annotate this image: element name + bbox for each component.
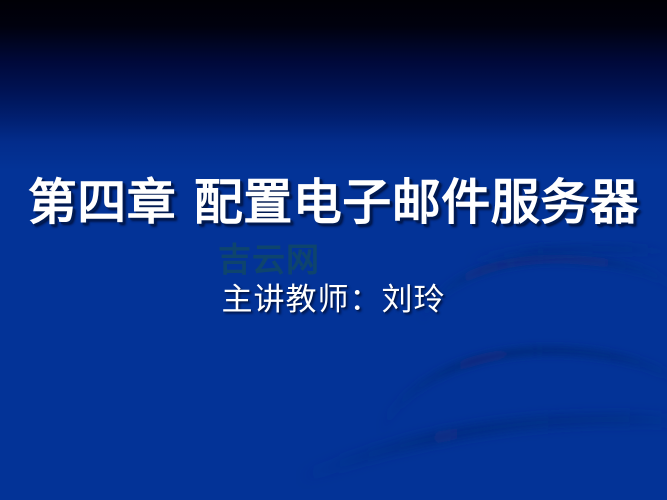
site-watermark: 吉云网 [203,239,335,279]
slide-title: 第四章 配置电子邮件服务器 [0,176,667,230]
slide-subtitle-presenter: 主讲教师：刘玲 [0,283,667,317]
presentation-slide: 吉云网 第四章 配置电子邮件服务器 主讲教师：刘玲 [0,0,667,500]
